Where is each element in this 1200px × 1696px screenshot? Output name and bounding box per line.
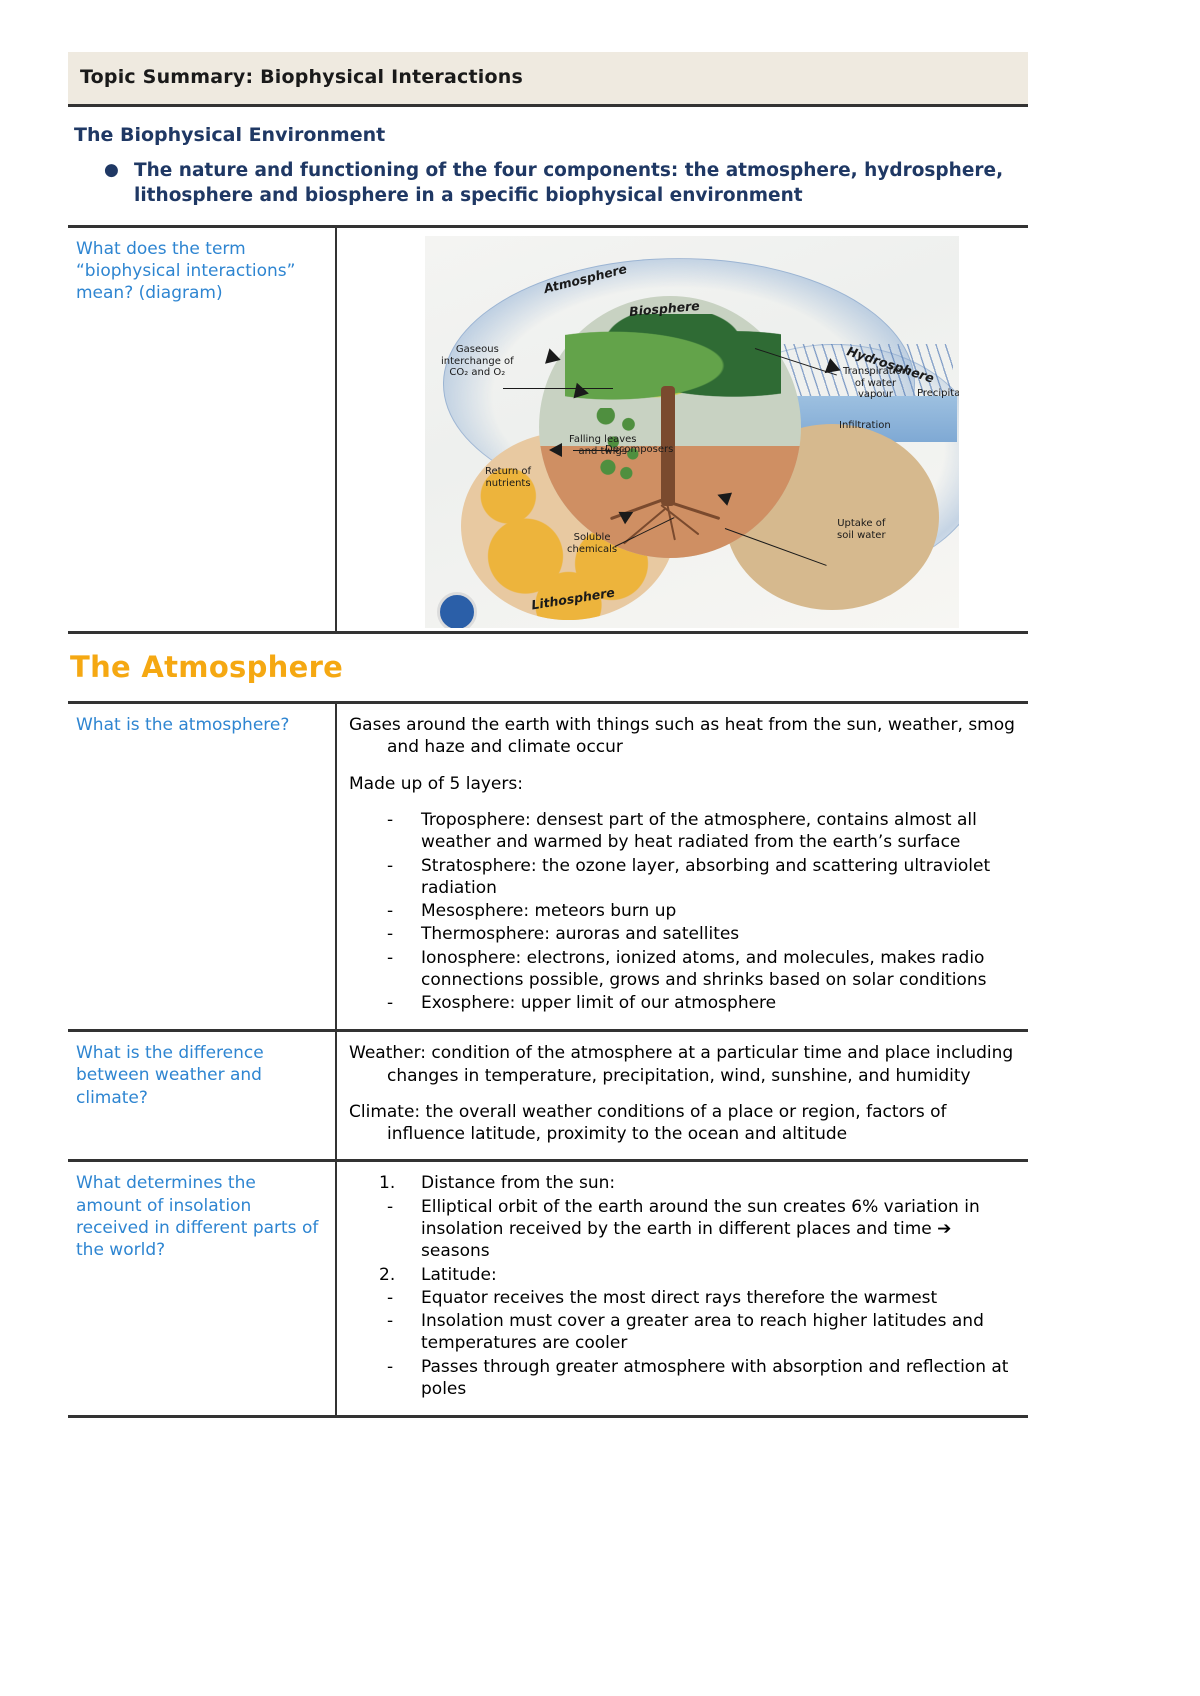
list-item: -Troposphere: densest part of the atmosp… xyxy=(349,809,1020,854)
label-decomposers: Decomposers xyxy=(605,444,673,456)
diagram-image-cell: Atmosphere Biosphere Hydrosphere Lithosp… xyxy=(336,227,1028,633)
list-item: -Thermosphere: auroras and satellites xyxy=(349,923,1020,945)
insolation-factors-list: 1.Distance from the sun: -Elliptical orb… xyxy=(349,1172,1020,1400)
list-item: -Passes through greater atmosphere with … xyxy=(349,1356,1020,1401)
dash-bullet-icon: - xyxy=(387,809,393,831)
table-row: What determines the amount of insolation… xyxy=(68,1161,1028,1417)
list-item-text: Distance from the sun: xyxy=(421,1173,615,1193)
dash-bullet-icon: - xyxy=(387,992,393,1014)
question-text: What determines the amount of insolation… xyxy=(76,1173,318,1259)
answer-paragraph: Weather: condition of the atmosphere at … xyxy=(349,1042,1020,1087)
list-item-text: Elliptical orbit of the earth around the… xyxy=(421,1197,980,1262)
list-marker: - xyxy=(387,1356,421,1378)
list-marker: - xyxy=(387,1310,421,1332)
list-item: -Elliptical orbit of the earth around th… xyxy=(349,1196,1020,1263)
diagram-question-cell: What does the term “biophysical interact… xyxy=(68,227,336,633)
label-soluble-chemicals: Soluble chemicals xyxy=(567,532,617,555)
list-item: -Stratosphere: the ozone layer, absorbin… xyxy=(349,855,1020,900)
answer-cell-weather-climate: Weather: condition of the atmosphere at … xyxy=(336,1031,1028,1161)
dash-bullet-icon: - xyxy=(387,900,393,922)
list-item-text: Troposphere: densest part of the atmosph… xyxy=(421,810,977,852)
list-item-text: Mesosphere: meteors burn up xyxy=(421,901,676,921)
answer-paragraph: Gases around the earth with things such … xyxy=(349,714,1020,759)
list-item: ● The nature and functioning of the four… xyxy=(134,159,1024,208)
section-heading-atmosphere: The Atmosphere xyxy=(70,650,1028,684)
document-content: Topic Summary: Biophysical Interactions … xyxy=(68,52,1028,1418)
label-uptake-soil-water: Uptake of soil water xyxy=(837,518,886,541)
page-title: Topic Summary: Biophysical Interactions xyxy=(80,66,523,88)
diagram-photo: Atmosphere Biosphere Hydrosphere Lithosp… xyxy=(425,236,959,628)
label-return-of-nutrients: Return of nutrients xyxy=(485,466,531,489)
label-transpiration: Transpiration of water vapour xyxy=(843,366,908,401)
bullet-dot-icon: ● xyxy=(104,159,119,182)
label-gaseous-interchange: Gaseous interchange of CO₂ and O₂ xyxy=(441,344,514,379)
list-item: -Mesosphere: meteors burn up xyxy=(349,900,1020,922)
arrow-gaseous xyxy=(503,388,613,389)
list-item: 1.Distance from the sun: xyxy=(349,1172,1020,1194)
list-item: -Ionosphere: electrons, ionized atoms, a… xyxy=(349,947,1020,992)
answer-paragraph: Made up of 5 layers: xyxy=(349,773,1020,795)
question-cell-weather-climate: What is the difference between weather a… xyxy=(68,1031,336,1161)
list-item-text: Exosphere: upper limit of our atmosphere xyxy=(421,993,776,1013)
syllabus-bullet-list: ● The nature and functioning of the four… xyxy=(68,159,1028,208)
question-cell-insolation: What determines the amount of insolation… xyxy=(68,1161,336,1417)
document-page: Topic Summary: Biophysical Interactions … xyxy=(0,0,1200,1696)
question-cell-atmosphere: What is the atmosphere? xyxy=(68,703,336,1031)
list-marker: 2. xyxy=(379,1264,413,1286)
list-item: -Equator receives the most direct rays t… xyxy=(349,1287,1020,1309)
list-item-text: Passes through greater atmosphere with a… xyxy=(421,1357,1008,1399)
blue-marker-dot xyxy=(437,592,477,628)
list-item: -Insolation must cover a greater area to… xyxy=(349,1310,1020,1355)
biophysical-interactions-diagram: Atmosphere Biosphere Hydrosphere Lithosp… xyxy=(425,236,959,628)
arrow-head-icon xyxy=(549,443,562,457)
atmosphere-qa-table: What is the atmosphere? Gases around the… xyxy=(68,701,1028,1418)
list-item-text: Ionosphere: electrons, ionized atoms, an… xyxy=(421,948,986,990)
diagram-question-text: What does the term “biophysical interact… xyxy=(76,239,295,303)
document-title-banner: Topic Summary: Biophysical Interactions xyxy=(68,52,1028,107)
tree-roots xyxy=(603,494,737,566)
list-marker: - xyxy=(387,1287,421,1309)
section-heading-biophysical-environment: The Biophysical Environment xyxy=(74,124,1028,146)
list-item: 2.Latitude: xyxy=(349,1264,1020,1286)
table-row: What does the term “biophysical interact… xyxy=(68,227,1028,633)
list-item-text: Thermosphere: auroras and satellites xyxy=(421,924,739,944)
question-text: What is the difference between weather a… xyxy=(76,1043,264,1107)
list-marker: - xyxy=(387,1196,421,1218)
diagram-table: What does the term “biophysical interact… xyxy=(68,225,1028,634)
dash-bullet-icon: - xyxy=(387,947,393,969)
list-item: -Exosphere: upper limit of our atmospher… xyxy=(349,992,1020,1014)
table-row: What is the difference between weather a… xyxy=(68,1031,1028,1161)
list-item-text: Latitude: xyxy=(421,1265,497,1285)
syllabus-bullet-text: The nature and functioning of the four c… xyxy=(134,160,1003,206)
answer-cell-insolation: 1.Distance from the sun: -Elliptical orb… xyxy=(336,1161,1028,1417)
list-item-text: Equator receives the most direct rays th… xyxy=(421,1288,937,1308)
label-infiltration: Infiltration xyxy=(839,420,891,432)
dash-bullet-icon: - xyxy=(387,855,393,877)
label-precipitation: Precipitation xyxy=(917,388,959,400)
answer-cell-atmosphere: Gases around the earth with things such … xyxy=(336,703,1028,1031)
question-text: What is the atmosphere? xyxy=(76,715,289,735)
answer-paragraph: Climate: the overall weather conditions … xyxy=(349,1101,1020,1146)
list-item-text: Stratosphere: the ozone layer, absorbing… xyxy=(421,856,990,898)
list-marker: 1. xyxy=(379,1172,413,1194)
atmosphere-layers-list: -Troposphere: densest part of the atmosp… xyxy=(349,809,1020,1014)
list-item-text: Insolation must cover a greater area to … xyxy=(421,1311,984,1353)
dash-bullet-icon: - xyxy=(387,923,393,945)
table-row: What is the atmosphere? Gases around the… xyxy=(68,703,1028,1031)
